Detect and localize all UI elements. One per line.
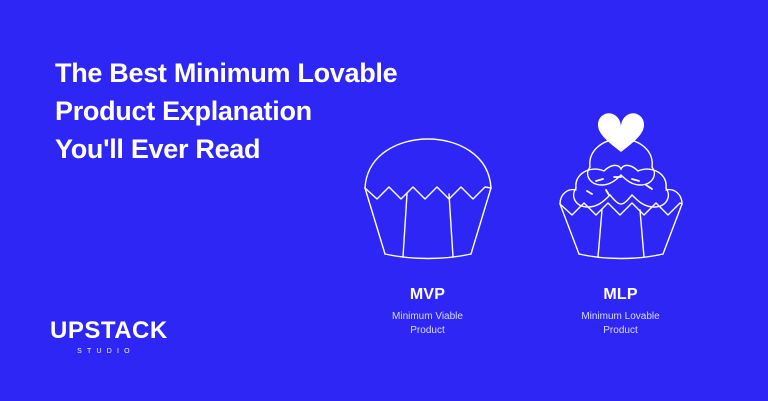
- plain-cupcake-icon: [353, 136, 503, 266]
- mvp-abbr: MVP: [410, 286, 445, 304]
- frosted-cupcake-with-heart-icon: [546, 91, 696, 266]
- mlp-expansion: Minimum Lovable Product: [556, 310, 686, 338]
- mlp-expansion-line-2: Product: [603, 325, 637, 336]
- mvp-expansion: Minimum Viable Product: [363, 310, 493, 338]
- comparison-item-mlp: MLP Minimum Lovable Product: [533, 81, 708, 338]
- mlp-abbr: MLP: [603, 286, 637, 304]
- mvp-expansion-line-1: Minimum Viable: [392, 311, 463, 322]
- heart-icon: [597, 113, 643, 152]
- mvp-illustration: [353, 81, 503, 266]
- mvp-expansion-line-2: Product: [410, 325, 444, 336]
- logo-wordmark: UPSTACK: [50, 318, 230, 344]
- brand-logo: UPSTACK STUDIO: [50, 318, 230, 358]
- comparison-item-mvp: MVP Minimum Viable Product: [340, 81, 515, 338]
- mlp-expansion-line-1: Minimum Lovable: [581, 311, 659, 322]
- promo-banner: The Best Minimum Lovable Product Explana…: [0, 0, 768, 401]
- logo-tagline: STUDIO: [50, 346, 162, 358]
- comparison-group: MVP Minimum Viable Product: [340, 88, 730, 338]
- mlp-illustration: [546, 81, 696, 266]
